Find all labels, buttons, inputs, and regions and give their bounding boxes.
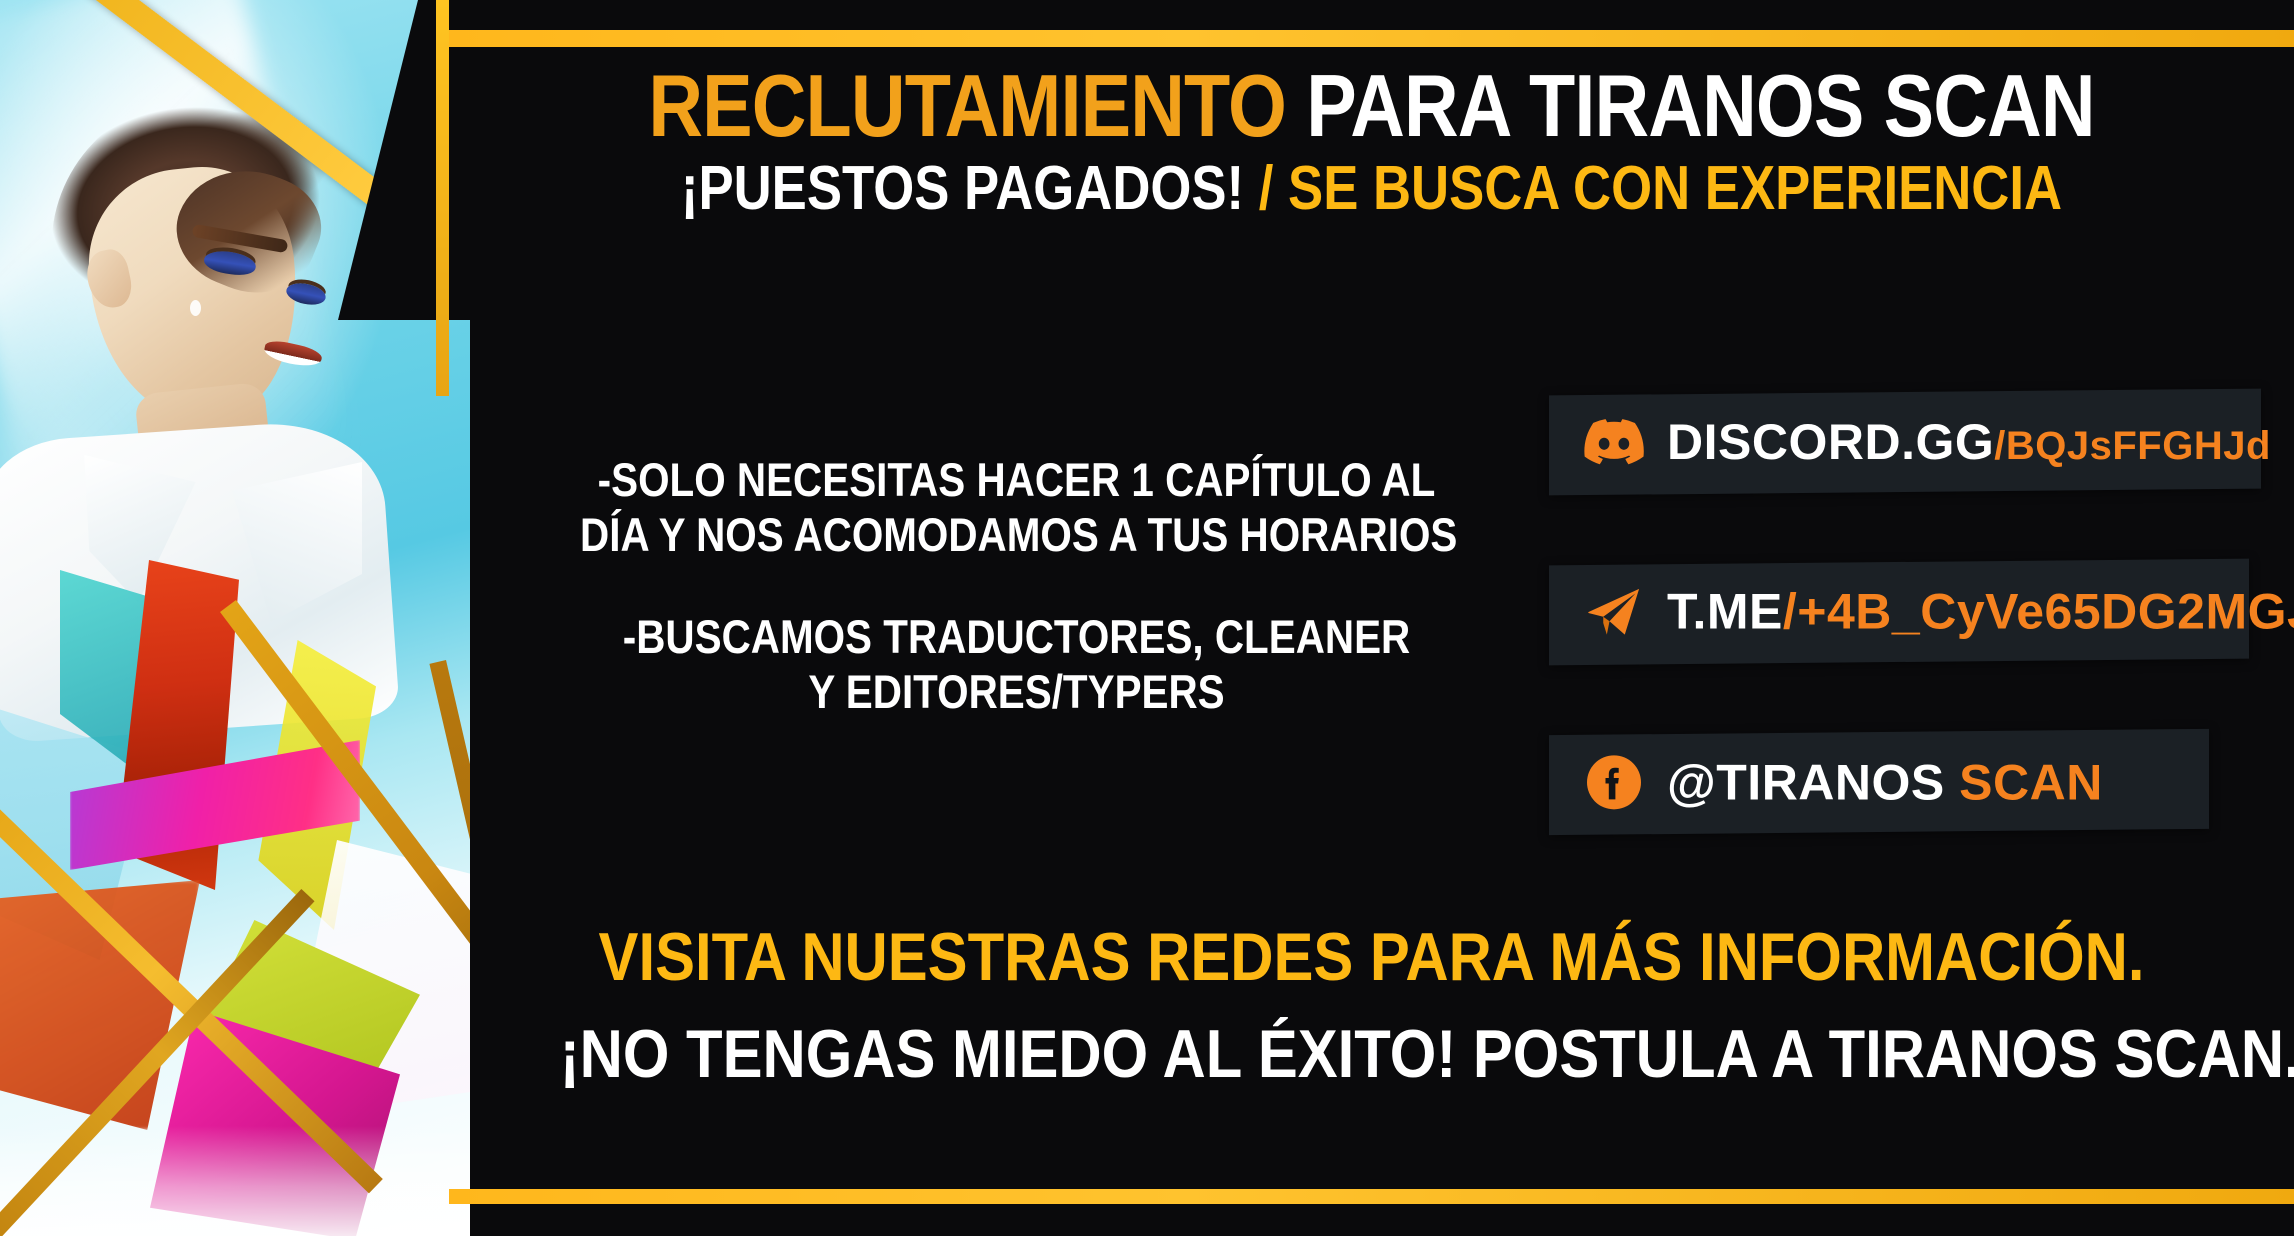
telegram-link: T.ME/+4B_CyVe65DG2MGJH bbox=[1667, 586, 2294, 636]
recruitment-banner: RECLUTAMIENTO PARA TIRANOS SCAN ¡PUESTOS… bbox=[0, 0, 2294, 1236]
bullet-line: Y EDITORES/TYPERS bbox=[580, 664, 1453, 719]
gold-vertical-rule bbox=[436, 0, 449, 396]
facebook-link: @TIRANOS SCAN bbox=[1667, 757, 2103, 807]
discord-invite-code: /BQJsFFGHJd bbox=[1994, 424, 2271, 468]
contact-telegram[interactable]: T.ME/+4B_CyVe65DG2MGJH bbox=[1549, 559, 2249, 666]
headline-rest: PARA TIRANOS SCAN bbox=[1306, 56, 2094, 155]
facebook-handle: @TIRANOS bbox=[1667, 754, 1945, 810]
cta-line-1: VISITA NUESTRAS REDES PARA MÁS INFORMACI… bbox=[560, 920, 2184, 995]
bullet-item: -SOLO NECESITAS HACER 1 CAPÍTULO AL DÍA … bbox=[580, 452, 1453, 563]
facebook-icon bbox=[1583, 754, 1645, 810]
subheadline-paid: ¡PUESTOS PAGADOS! bbox=[681, 154, 1244, 223]
bullet-list: -SOLO NECESITAS HACER 1 CAPÍTULO AL DÍA … bbox=[580, 452, 1453, 720]
facebook-handle-suffix: SCAN bbox=[1959, 754, 2103, 810]
character-sweat-drop bbox=[190, 300, 201, 316]
contact-facebook[interactable]: @TIRANOS SCAN bbox=[1549, 729, 2209, 835]
cta-line-2: ¡NO TENGAS MIEDO AL ÉXITO! POSTULA A TIR… bbox=[560, 1017, 2184, 1092]
telegram-invite-code: /+4B_CyVe65DG2MGJH bbox=[1783, 583, 2294, 639]
discord-domain: DISCORD.GG bbox=[1667, 414, 1994, 470]
bullet-line: -SOLO NECESITAS HACER 1 CAPÍTULO AL bbox=[580, 452, 1453, 507]
subheadline-experience: / SE BUSCA CON EXPERIENCIA bbox=[1259, 154, 2062, 223]
discord-icon bbox=[1583, 414, 1645, 470]
bullet-item: -BUSCAMOS TRADUCTORES, CLEANER Y EDITORE… bbox=[580, 609, 1453, 720]
gold-rule-top bbox=[449, 30, 2294, 47]
bullet-line: -BUSCAMOS TRADUCTORES, CLEANER bbox=[580, 609, 1453, 664]
content-area: RECLUTAMIENTO PARA TIRANOS SCAN ¡PUESTOS… bbox=[449, 0, 2294, 1236]
contact-list: DISCORD.GG/BQJsFFGHJd T.ME/+4B_CyVe65DG2… bbox=[1549, 392, 2269, 832]
headline-highlight: RECLUTAMIENTO bbox=[648, 56, 1286, 155]
headline: RECLUTAMIENTO PARA TIRANOS SCAN bbox=[578, 62, 2165, 150]
gold-rule-bottom bbox=[449, 1189, 2294, 1204]
call-to-action: VISITA NUESTRAS REDES PARA MÁS INFORMACI… bbox=[560, 920, 2184, 1092]
subheadline: ¡PUESTOS PAGADOS! / SE BUSCA CON EXPERIE… bbox=[587, 158, 2155, 220]
contact-discord[interactable]: DISCORD.GG/BQJsFFGHJd bbox=[1549, 389, 2261, 496]
telegram-domain: T.ME bbox=[1667, 583, 1783, 639]
discord-link: DISCORD.GG/BQJsFFGHJd bbox=[1667, 417, 2271, 467]
telegram-icon bbox=[1583, 583, 1645, 639]
artwork-panel bbox=[0, 0, 470, 1236]
bullet-line: DÍA Y NOS ACOMODAMOS A TUS HORARIOS bbox=[580, 507, 1453, 562]
